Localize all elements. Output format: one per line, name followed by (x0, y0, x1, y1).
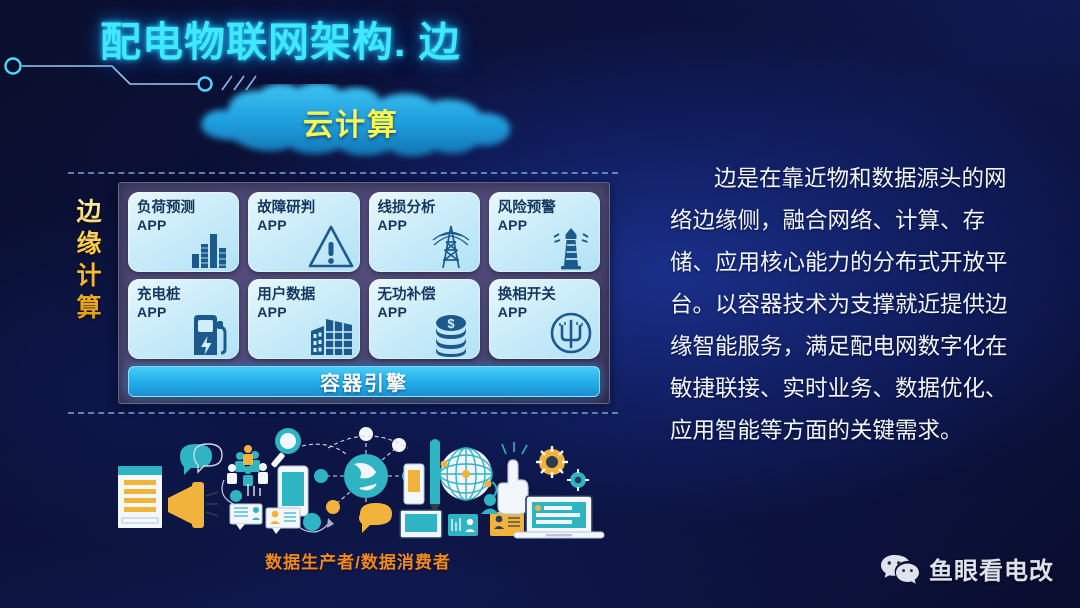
people-group-icon (222, 445, 268, 506)
app-card-risk-warning[interactable]: 风险预警 APP (489, 192, 600, 272)
app-card-title: 换相开关 (498, 287, 591, 303)
app-card-reactive-compensation[interactable]: 无功补偿 APP $ (369, 279, 480, 359)
hand-pointer-icon (498, 442, 528, 514)
app-card-title: 负荷预测 (137, 200, 230, 216)
divider-top (68, 172, 618, 174)
laptop-icon (514, 496, 604, 538)
app-card-title: 无功补偿 (378, 287, 471, 303)
transmission-tower-icon (427, 222, 475, 270)
app-card-load-forecast[interactable]: 负荷预测 APP (128, 192, 239, 272)
wire-globe-icon (440, 448, 497, 500)
data-producers-consumers-illustration: .t{fill:#2fb4c4}.y{fill:#f2b33d}.w{fill:… (108, 418, 608, 540)
watermark-text: 鱼眼看电改 (929, 551, 1054, 586)
app-grid-row-1: 负荷预测 APP 故障研判 APP (128, 192, 600, 272)
app-grid-row-2: 充电桩 APP 用户数据 APP (128, 279, 600, 359)
app-card-charging-pile[interactable]: 充电桩 APP (128, 279, 239, 359)
app-card-title: 线损分析 (378, 200, 471, 216)
app-card-line-loss[interactable]: 线损分析 APP (369, 192, 480, 272)
app-card-user-data[interactable]: 用户数据 APP (248, 279, 359, 359)
magnifier-icon (271, 428, 346, 468)
page-title: 配电物联网架构. 边 (100, 8, 461, 68)
ev-charger-icon (186, 309, 234, 357)
app-card-title: 用户数据 (257, 287, 350, 303)
slide-canvas: 配电物联网架构. 边 云计算 边 缘 计 算 (0, 0, 1080, 608)
tablet-icon (404, 464, 424, 504)
watermark: 鱼眼看电改 (880, 551, 1054, 586)
cloud-label: 云计算 (176, 84, 526, 162)
body-paragraph: 边是在靠近物和数据源头的网络边缘侧，融合网络、计算、存储、应用核心能力的分布式开… (670, 158, 1022, 452)
edge-computing-vertical-label: 边 缘 计 算 (72, 196, 106, 324)
document-icon (118, 466, 162, 528)
app-card-fault-diagnosis[interactable]: 故障研判 APP (248, 192, 359, 272)
app-card-title: 充电桩 (137, 287, 230, 303)
vlabel-char-0: 边 (72, 196, 106, 228)
bar-chart-icon (186, 222, 234, 270)
gear-icon (536, 446, 589, 491)
warning-triangle-icon (307, 222, 355, 270)
wechat-icon (880, 553, 920, 585)
monitor-icon (400, 510, 442, 538)
app-card-phase-switch[interactable]: 换相开关 APP (489, 279, 600, 359)
id-card-icon (230, 504, 262, 530)
phase-switch-icon (547, 309, 595, 357)
container-engine-label: 容器引擎 (320, 367, 408, 396)
megaphone-icon (168, 482, 218, 528)
cloud-computing-node: 云计算 (176, 84, 526, 162)
chat-bubble-icon (180, 444, 222, 475)
buildings-grid-icon (307, 309, 355, 357)
vlabel-char-3: 算 (72, 292, 106, 324)
presentation-icon (448, 514, 478, 536)
lighthouse-icon (547, 222, 595, 270)
svg-text:$: $ (447, 316, 455, 331)
app-card-title: 风险预警 (498, 200, 591, 216)
edge-computing-panel: 负荷预测 APP 故障研判 APP (118, 182, 610, 404)
coin-stack-icon: $ (427, 309, 475, 357)
vlabel-char-1: 缘 (72, 228, 106, 260)
user-chat-icon (266, 508, 300, 534)
vlabel-char-2: 计 (72, 260, 106, 292)
pencil-icon (430, 439, 440, 514)
divider-bottom (68, 412, 618, 414)
illustration-caption: 数据生产者/数据消费者 (118, 548, 598, 573)
chat-bubble-orange-icon (360, 503, 392, 533)
container-engine-bar[interactable]: 容器引擎 (128, 366, 600, 397)
app-card-title: 故障研判 (257, 200, 350, 216)
